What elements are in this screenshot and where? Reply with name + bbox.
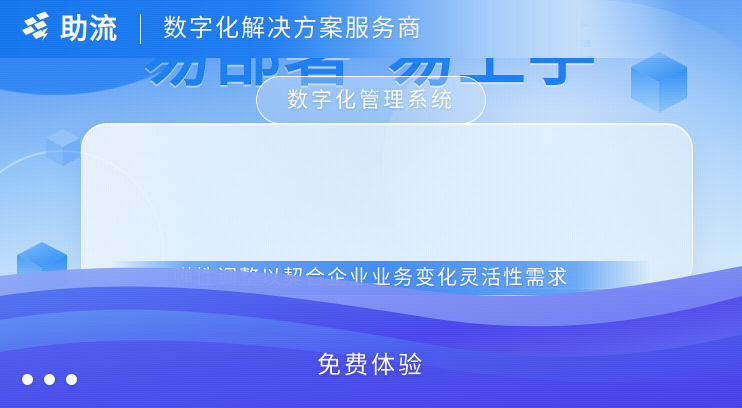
header-tagline: 数字化解决方案服务商 <box>163 17 423 41</box>
carousel-dot[interactable] <box>66 374 77 385</box>
promo-banner: 助流 数字化解决方案服务商 数字化管理系统 <box>0 0 742 408</box>
subtitle-pill: 数字化管理系统 <box>256 76 486 124</box>
header-bar: 助流 数字化解决方案服务商 <box>0 0 742 58</box>
carousel-dot[interactable] <box>22 374 33 385</box>
header-divider <box>140 14 141 44</box>
carousel-dot[interactable] <box>44 374 55 385</box>
brand-wordmark: 助流 <box>60 15 118 43</box>
3d-cube-icon <box>44 128 82 173</box>
free-trial-cta[interactable]: 免费体验 <box>0 345 742 380</box>
carousel-dots[interactable] <box>22 374 77 385</box>
wave-decoration <box>0 260 742 408</box>
zhuliu-lightning-logo-icon[interactable] <box>18 10 56 48</box>
